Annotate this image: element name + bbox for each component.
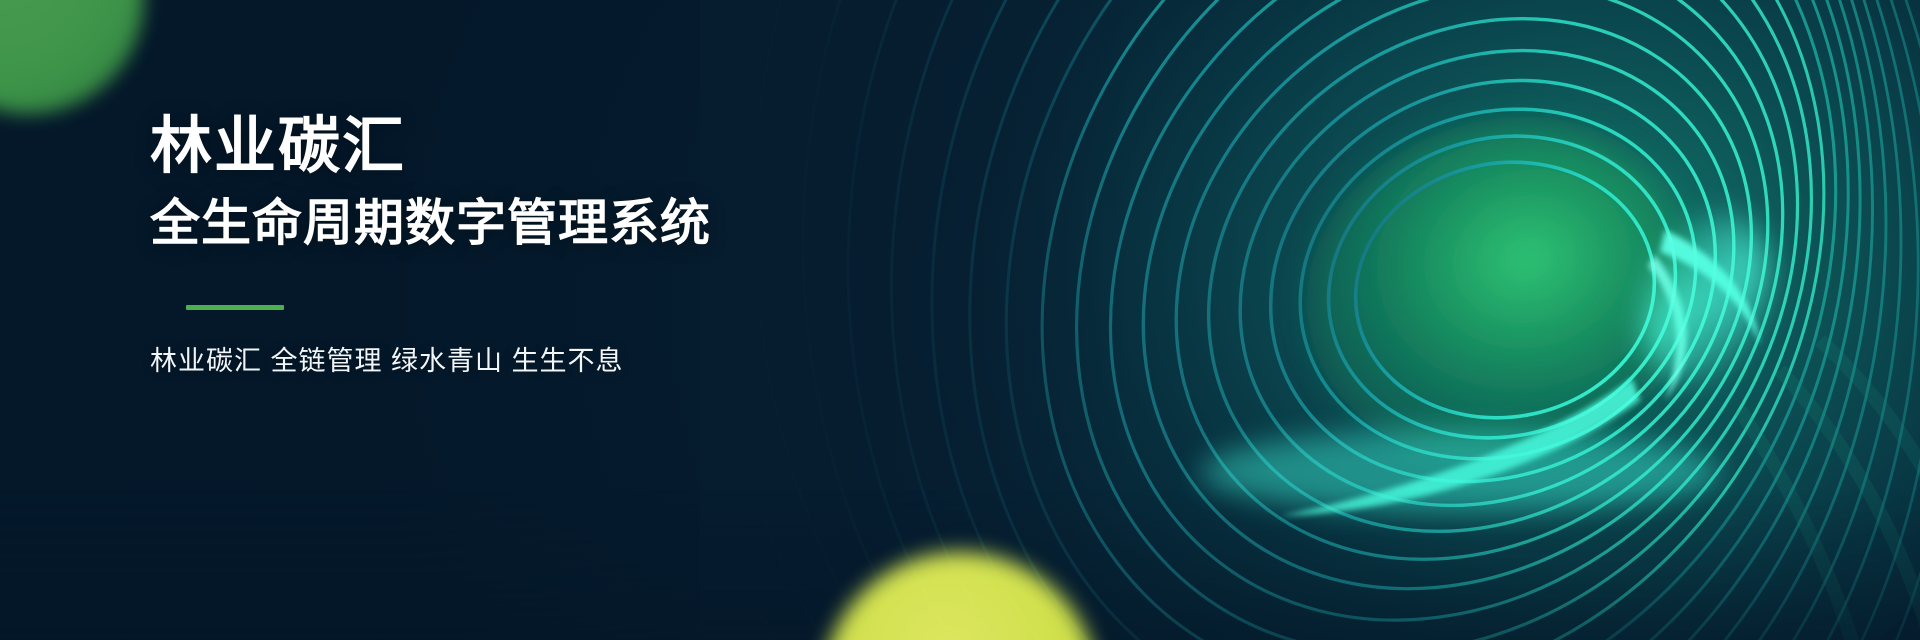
hero-text-block: 林业碳汇 全生命周期数字管理系统 林业碳汇 全链管理 绿水青山 生生不息 xyxy=(150,112,910,379)
accent-divider xyxy=(186,305,284,310)
page-tagline: 林业碳汇 全链管理 绿水青山 生生不息 xyxy=(150,343,910,379)
page-title: 林业碳汇 xyxy=(150,112,910,182)
hero-banner: 林业碳汇 全生命周期数字管理系统 林业碳汇 全链管理 绿水青山 生生不息 xyxy=(0,0,1920,640)
page-subtitle: 全生命周期数字管理系统 xyxy=(150,194,910,252)
